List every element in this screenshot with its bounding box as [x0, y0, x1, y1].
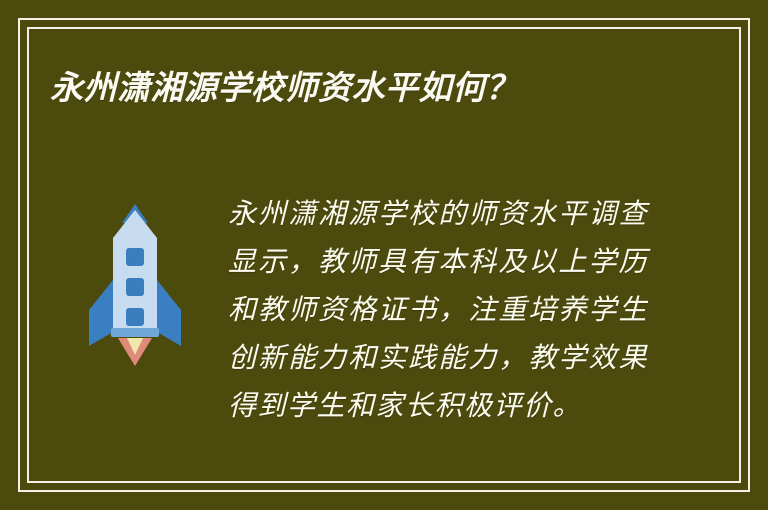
page-title: 永州潇湘源学校师资水平如何？ [50, 68, 519, 108]
body-paragraph: 永州潇湘源学校的师资水平调查显示，教师具有本科及以上学历和教师资格证书，注重培养… [228, 190, 648, 430]
rocket-icon [87, 198, 183, 368]
content-row: 永州潇湘源学校的师资水平调查显示，教师具有本科及以上学历和教师资格证书，注重培养… [60, 190, 708, 430]
illustration-container [60, 190, 210, 368]
poster-canvas: 永州潇湘源学校师资水平如何？ [0, 0, 768, 510]
